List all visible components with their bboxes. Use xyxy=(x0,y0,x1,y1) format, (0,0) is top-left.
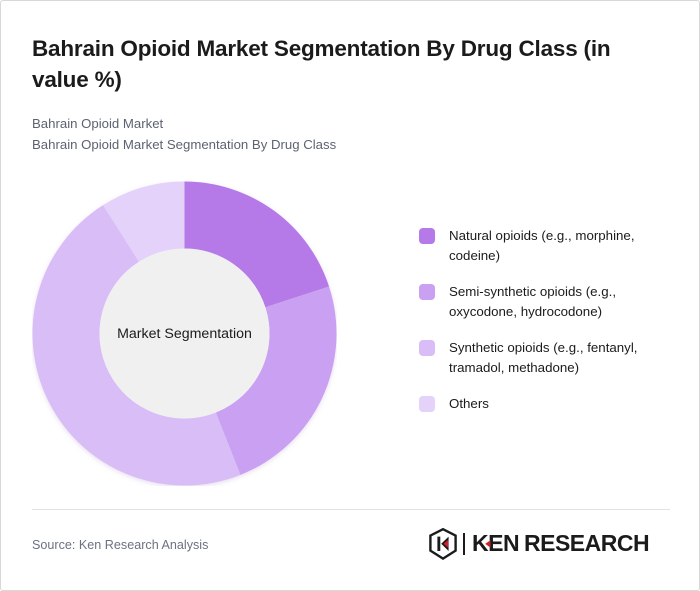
subtitle-segmentation: Bahrain Opioid Market Segmentation By Dr… xyxy=(32,134,632,155)
ken-logo-mark-icon xyxy=(429,528,457,560)
legend-swatch-synthetic xyxy=(419,340,435,356)
legend-label-semi-synthetic: Semi-synthetic opioids (e.g., oxycodone,… xyxy=(449,282,677,322)
legend-swatch-semi-synthetic xyxy=(419,284,435,300)
legend-swatch-natural xyxy=(419,228,435,244)
subtitle-block: Bahrain Opioid Market Bahrain Opioid Mar… xyxy=(32,113,632,155)
chart-legend: Natural opioids (e.g., morphine, codeine… xyxy=(419,226,677,414)
logo-wordmark-svg: KEN RESEARCH xyxy=(472,531,668,557)
subtitle-market: Bahrain Opioid Market xyxy=(32,113,632,134)
chart-area: Market Segmentation Natural opioids (e.g… xyxy=(1,161,700,506)
legend-label-natural: Natural opioids (e.g., morphine, codeine… xyxy=(449,226,677,266)
donut-svg: Market Segmentation xyxy=(32,181,337,486)
donut-center-label: Market Segmentation xyxy=(117,326,252,342)
logo-divider xyxy=(463,533,465,555)
legend-label-others: Others xyxy=(449,394,489,414)
source-text: Source: Ken Research Analysis xyxy=(32,538,208,552)
legend-item-natural[interactable]: Natural opioids (e.g., morphine, codeine… xyxy=(419,226,677,266)
footer-divider xyxy=(32,509,670,510)
donut-chart: Market Segmentation xyxy=(32,181,337,486)
chart-card: Bahrain Opioid Market Segmentation By Dr… xyxy=(0,0,700,591)
logo-text-research: RESEARCH xyxy=(524,531,649,556)
logo-text-ken: KEN xyxy=(472,531,519,556)
legend-item-synthetic[interactable]: Synthetic opioids (e.g., fentanyl, trama… xyxy=(419,338,677,378)
legend-item-semi-synthetic[interactable]: Semi-synthetic opioids (e.g., oxycodone,… xyxy=(419,282,677,322)
logo-wordmark: KEN RESEARCH xyxy=(472,531,668,557)
legend-item-others[interactable]: Others xyxy=(419,394,677,414)
ken-research-logo: KEN RESEARCH xyxy=(429,526,668,562)
page-title: Bahrain Opioid Market Segmentation By Dr… xyxy=(32,33,672,95)
legend-label-synthetic: Synthetic opioids (e.g., fentanyl, trama… xyxy=(449,338,677,378)
legend-swatch-others xyxy=(419,396,435,412)
